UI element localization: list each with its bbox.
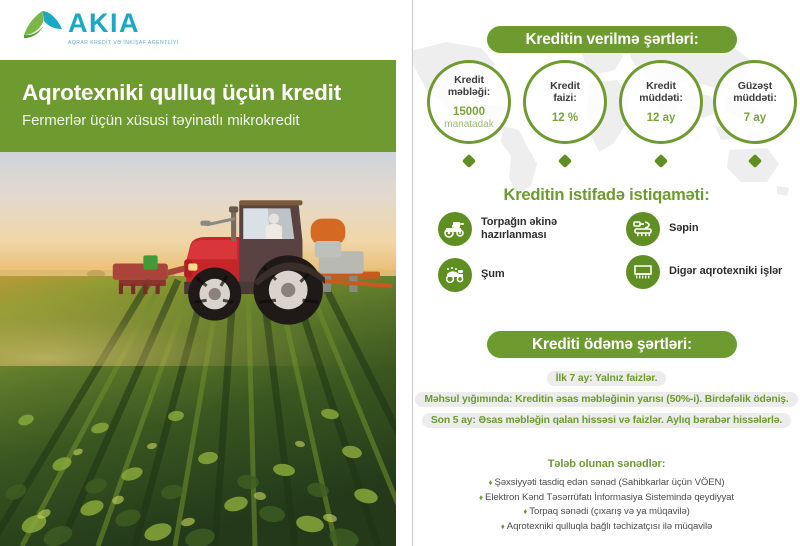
logo-area: AKIA AQRAR KREDİT VƏ İNKİŞAF AGENTLİYİ <box>0 0 396 60</box>
usage-item-label: Torpağın əkinə hazırlanması <box>481 216 608 242</box>
usage-item-diger-aqrotexniki-isler[interactable]: Digər aqrotexniki işlər <box>626 255 800 289</box>
conditions-header: Kreditin verilmə şərtləri: <box>487 26 737 53</box>
repayment-header: Krediti ödəmə şərtləri: <box>487 331 737 358</box>
seeder-icon <box>626 212 660 246</box>
usage-item-label: Digər aqrotexniki işlər <box>669 265 782 278</box>
diamond-marker <box>558 154 572 168</box>
bullet-icon: ♦ <box>501 522 505 531</box>
left-panel: AKIA AQRAR KREDİT VƏ İNKİŞAF AGENTLİYİ A… <box>0 0 396 546</box>
circle-value: 7 ay <box>744 112 766 124</box>
circle-label-line2: məbləği: <box>448 86 490 98</box>
condition-circle-kredit-faizi[interactable]: Kredit faizi: 12 % <box>523 60 607 144</box>
tractor-icon <box>438 212 472 246</box>
documents-title: Tələb olunan sənədlər: <box>413 458 800 470</box>
logo-wordmark: AKIA <box>68 10 179 37</box>
circle-label-line1: Güzəşt <box>738 80 772 92</box>
harvester-icon <box>626 255 660 289</box>
conditions-circles: Kredit məbləği: 15000 manatadak Kredit f… <box>413 60 800 152</box>
repayment-line: İlk 7 ay: Yalnız faizlər. <box>547 371 667 386</box>
document-list-item: ♦Torpaq sənədi (çıxarış və ya müqavilə) <box>413 505 800 520</box>
document-list-item: ♦Elektron Kənd Təsərrüfatı İnformasiya S… <box>413 491 800 506</box>
bullet-icon: ♦ <box>479 493 483 502</box>
usage-item-label: Şum <box>481 268 505 281</box>
circle-value: 12 % <box>552 112 578 124</box>
circle-value: 12 ay <box>647 112 676 124</box>
usage-item-label: Səpin <box>669 222 698 235</box>
bullet-icon: ♦ <box>489 478 493 487</box>
circle-value-sub: manatadak <box>444 119 493 130</box>
circle-label-line1: Kredit <box>550 80 580 92</box>
circle-label-line2: faizi: <box>553 92 576 104</box>
document-list-item: ♦Şəxsiyyəti tasdiq edən sənəd (Sahibkarl… <box>413 476 800 491</box>
condition-circle-guzest-muddeti[interactable]: Güzəşt müddəti: 7 ay <box>713 60 797 144</box>
usage-section-title: Kreditin istifadə istiqaməti: <box>413 186 800 205</box>
circle-label-line1: Kredit <box>454 74 484 86</box>
documents-list: ♦Şəxsiyyəti tasdiq edən sənəd (Sahibkarl… <box>413 476 800 534</box>
usage-item-sum[interactable]: Şum <box>438 258 608 292</box>
document-label: Aqrotexniki qulluqla bağlı təchizatçısı … <box>507 521 712 532</box>
condition-circle-kredit-meblegi[interactable]: Kredit məbləği: 15000 manatadak <box>427 60 511 144</box>
circle-label-line1: Kredit <box>646 80 676 92</box>
document-label: Şəxsiyyəti tasdiq edən sənəd (Sahibkarla… <box>495 477 725 488</box>
circle-label-line2: müddəti: <box>733 92 777 104</box>
plough-icon <box>438 258 472 292</box>
akia-logo[interactable]: AKIA AQRAR KREDİT VƏ İNKİŞAF AGENTLİYİ <box>22 9 179 46</box>
circle-value: 15000 <box>453 106 485 118</box>
usage-item-sepin[interactable]: Səpin <box>626 212 800 246</box>
title-band: Aqrotexniki qulluq üçün kredit Fermerlər… <box>0 60 396 152</box>
document-label: Torpaq sənədi (çıxarış və ya müqavilə) <box>529 506 689 517</box>
usage-item-torpagin-ekine-hazirlanmasi[interactable]: Torpağın əkinə hazırlanması <box>438 212 608 246</box>
diamond-marker <box>462 154 476 168</box>
document-label: Elektron Kənd Təsərrüfatı İnformasiya Si… <box>485 492 734 503</box>
logo-tagline: AQRAR KREDİT VƏ İNKİŞAF AGENTLİYİ <box>68 40 179 46</box>
infographic-page: AKIA AQRAR KREDİT VƏ İNKİŞAF AGENTLİYİ A… <box>0 0 800 546</box>
diamond-marker <box>654 154 668 168</box>
repayment-line: Məhsul yığımında: Kreditin əsas məbləğin… <box>415 392 797 407</box>
page-subtitle: Fermerlər üçün xüsusi təyinatlı mikrokre… <box>22 112 396 129</box>
leaf-logo-icon <box>22 9 64 43</box>
diamond-marker <box>748 154 762 168</box>
page-title: Aqrotexniki qulluq üçün kredit <box>22 80 396 106</box>
bullet-icon: ♦ <box>523 507 527 516</box>
hero-photo-tractor-field <box>0 152 396 546</box>
repayment-line: Son 5 ay: Əsas məbləğin qalan hissəsi və… <box>422 413 791 428</box>
condition-circle-kredit-muddeti[interactable]: Kredit müddəti: 12 ay <box>619 60 703 144</box>
circle-label-line2: müddəti: <box>639 92 683 104</box>
document-list-item: ♦Aqrotexniki qulluqla bağlı təchizatçısı… <box>413 520 800 535</box>
right-panel: Kreditin verilmə şərtləri: Kredit məbləğ… <box>413 0 800 546</box>
repayment-terms-list: İlk 7 ay: Yalnız faizlər. Məhsul yığımın… <box>413 368 800 431</box>
